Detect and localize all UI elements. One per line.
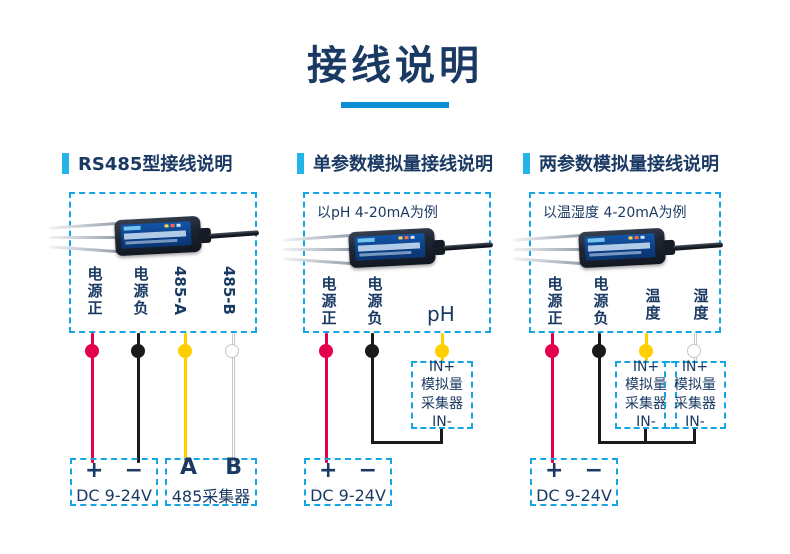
terminal-label-char: 源 (543, 293, 567, 310)
terminal-label-char: 电 (589, 276, 613, 293)
power-terminal-row: + − (532, 460, 616, 482)
terminal-label-char: 正 (543, 310, 567, 327)
terminal-label-power-positive: 电源正 (83, 266, 107, 316)
label-dot-icon (404, 236, 408, 239)
brand-mark-icon (588, 238, 605, 243)
cable (443, 242, 493, 250)
terminal-label-char: 温 (641, 288, 665, 305)
sensor-device-image-single-analog (305, 224, 491, 274)
power-supply-caption: DC 9-24V (76, 486, 152, 505)
terminal-label-char: 正 (317, 310, 341, 327)
wire-dot-black (131, 344, 145, 358)
wire-dot-red (545, 344, 559, 358)
terminal-a: A (180, 457, 197, 479)
section-marker-icon (62, 153, 69, 174)
collector-485-box: A B 485采集器 (165, 458, 257, 506)
label-dot-icon (640, 236, 644, 239)
collector-line-1: 模拟量 (625, 377, 667, 395)
panel-rs485-device-area: 电源正 电源负 485-A 485-B (69, 192, 257, 333)
terminal-label-char: 电 (543, 276, 567, 293)
collector-terminal-row: A B (167, 457, 255, 479)
terminal-label-char: 电 (83, 266, 107, 283)
label-subtext-line (125, 239, 177, 245)
terminal-minus: − (585, 460, 603, 482)
terminal-label-char: 负 (589, 310, 613, 327)
collector-line-2: 采集器 (625, 396, 667, 414)
wire-branch-to-in-minus (598, 441, 696, 444)
terminal-plus: + (85, 460, 103, 482)
label-dot-icon (634, 236, 638, 239)
example-note-dual-analog: 以温湿度 4-20mA为例 (543, 202, 686, 222)
power-supply-caption: DC 9-24V (310, 486, 386, 505)
terminal-label-485a: 485-A (171, 266, 188, 315)
power-supply-caption: DC 9-24V (536, 486, 612, 505)
terminal-label-power-positive: 电源正 (317, 276, 341, 326)
terminal-label-char: 湿 (689, 288, 713, 305)
section-marker-icon (523, 153, 530, 174)
terminal-label-char: 源 (317, 293, 341, 310)
section-title-dual-analog: 两参数模拟量接线说明 (539, 150, 719, 176)
collector-line-2: 采集器 (674, 396, 716, 414)
section-title-single-analog: 单参数模拟量接线说明 (313, 150, 493, 176)
terminal-label-temperature: 温度 (641, 288, 665, 322)
collector-line-1: 模拟量 (674, 377, 716, 395)
terminal-label-char: 正 (83, 300, 107, 317)
terminal-label-char: 源 (129, 283, 153, 300)
wire-dot-black (592, 344, 606, 358)
brand-mark-icon (358, 238, 375, 243)
terminal-b: B (225, 457, 242, 479)
power-supply-box-dual-analog: + − DC 9-24V (530, 458, 618, 506)
terminal-minus: − (125, 460, 143, 482)
collector-in-plus: IN+ (682, 359, 708, 377)
wire-branch-to-in-minus (371, 441, 443, 444)
terminal-label-char: 度 (689, 305, 713, 322)
wire-dot-red (85, 344, 99, 358)
device-label (120, 221, 191, 249)
page-title-block: 接线说明 (0, 44, 790, 108)
collector-line-1: 模拟量 (421, 377, 463, 395)
collector-485-caption: 485采集器 (172, 483, 251, 507)
section-header-single-analog: 单参数模拟量接线说明 (297, 150, 493, 176)
terminal-label-char: 电 (363, 276, 387, 293)
terminal-plus: + (545, 460, 563, 482)
brand-mark-icon (124, 226, 141, 231)
label-dot-icon (164, 224, 168, 227)
terminal-label-char: 源 (363, 293, 387, 310)
analog-collector-box: IN+ 模拟量 采集器 IN- (411, 361, 473, 429)
collector-in-minus: IN- (636, 414, 656, 432)
sensor-device-image-rs485 (71, 212, 257, 262)
collector-in-minus: IN- (685, 414, 705, 432)
terminal-label-humidity: 湿度 (689, 288, 713, 322)
terminal-label-power-negative: 电源负 (589, 276, 613, 326)
terminal-minus: − (359, 460, 377, 482)
wire-dot-black (365, 344, 379, 358)
device-label (584, 233, 655, 261)
terminal-label-char: 电 (317, 276, 341, 293)
label-dot-icon (176, 224, 180, 227)
cable (209, 230, 259, 238)
wire-dot-yellow (639, 344, 653, 358)
power-supply-box-rs485: + − DC 9-24V (70, 458, 158, 506)
wire-dot-white (687, 344, 701, 358)
terminal-label-char: 源 (83, 283, 107, 300)
cable (673, 242, 723, 250)
label-dot-icon (170, 224, 174, 227)
terminal-label-char: 负 (363, 310, 387, 327)
power-supply-box-single-analog: + − DC 9-24V (304, 458, 392, 506)
terminal-label-ph: pH (427, 302, 455, 326)
wiring-instruction-page: 接线说明 RS485型接线说明 电源正 电源负 485-A (0, 0, 790, 554)
terminal-label-power-negative: 电源负 (363, 276, 387, 326)
collector-in-minus: IN- (432, 414, 452, 432)
label-dot-icon (410, 236, 414, 239)
page-title: 接线说明 (0, 44, 790, 88)
sensor-device-image-dual-analog (535, 224, 721, 274)
section-marker-icon (297, 153, 304, 174)
terminal-label-char: 度 (641, 305, 665, 322)
section-header-rs485: RS485型接线说明 (62, 150, 232, 176)
collector-in-plus: IN+ (633, 359, 659, 377)
power-terminal-row: + − (72, 460, 156, 482)
panel-single-analog-device-area: 以pH 4-20mA为例 电源正 电源负 pH (303, 192, 491, 333)
label-dot-icon (398, 236, 402, 239)
collector-in-plus: IN+ (429, 359, 455, 377)
section-title-rs485: RS485型接线说明 (78, 150, 232, 176)
wire-dot-yellow (435, 344, 449, 358)
wire-dot-yellow (178, 344, 192, 358)
label-subtext-line (359, 251, 411, 257)
terminal-label-char: 源 (589, 293, 613, 310)
panel-dual-analog-device-area: 以温湿度 4-20mA为例 电源正 电源负 温度 湿度 (529, 192, 721, 333)
collector-line-2: 采集器 (421, 396, 463, 414)
terminal-label-power-negative: 电源负 (129, 266, 153, 316)
section-header-dual-analog: 两参数模拟量接线说明 (523, 150, 719, 176)
terminal-label-485b: 485-B (220, 266, 237, 315)
terminal-plus: + (319, 460, 337, 482)
analog-collector-box-humidity: IN+ 模拟量 采集器 IN- (664, 361, 726, 429)
terminal-label-char: 负 (129, 300, 153, 317)
example-note-single-analog: 以pH 4-20mA为例 (317, 202, 438, 222)
power-terminal-row: + − (306, 460, 390, 482)
terminal-label-power-positive: 电源正 (543, 276, 567, 326)
label-subtext-line (589, 251, 641, 257)
title-underline-bar (341, 102, 449, 108)
label-dot-icon (628, 236, 632, 239)
wire-dot-white (225, 344, 239, 358)
device-label (354, 233, 425, 261)
terminal-label-char: 电 (129, 266, 153, 283)
wire-dot-red (319, 344, 333, 358)
